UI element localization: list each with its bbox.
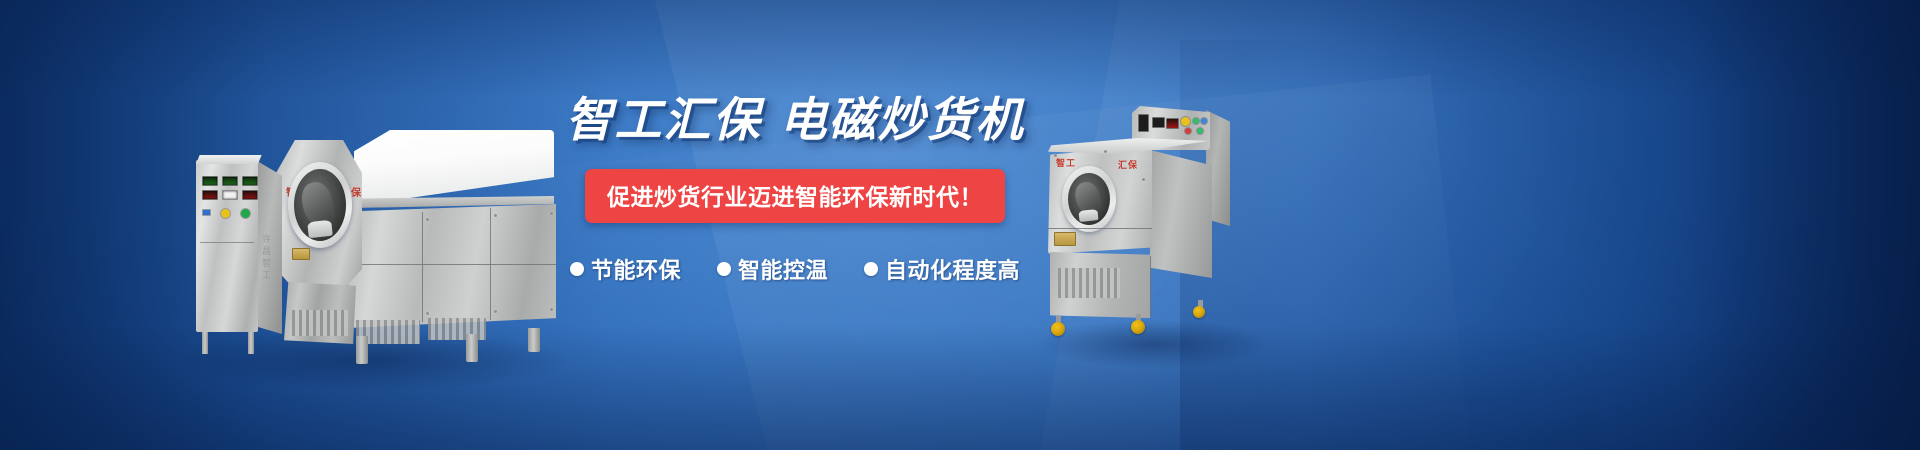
product-image-right: 智工 汇保 — [1040, 100, 1255, 350]
drum-blade — [1078, 209, 1098, 222]
machine-lid — [354, 130, 554, 206]
body-seam — [348, 264, 556, 265]
banner-copy: 智工汇保电磁炒货机 促进炒货行业迈进智能环保新时代！ 节能环保 智能控温 自动化… — [560, 96, 1030, 285]
knob-green[interactable] — [240, 208, 251, 219]
meter-green[interactable] — [242, 176, 258, 186]
body-rivet — [494, 214, 497, 217]
knob-blue[interactable] — [1200, 117, 1208, 125]
display-red[interactable] — [202, 190, 218, 200]
machine-leg — [528, 328, 540, 352]
cabinet-leg — [202, 332, 208, 354]
headline-part-1: 智工汇保 — [566, 93, 762, 146]
cabinet-side-text: 许昌智工 — [260, 234, 273, 324]
caster-wheel — [1193, 306, 1205, 318]
knob-red[interactable] — [1184, 127, 1192, 135]
machine-drum-interior — [1068, 173, 1110, 225]
tagline-ribbon: 促进炒货行业迈进智能环保新时代！ — [585, 169, 1005, 223]
meter-dark[interactable] — [1138, 114, 1149, 132]
feature-item: 节能环保 — [570, 253, 681, 285]
body-seam — [422, 212, 423, 322]
feature-item: 智能控温 — [717, 253, 828, 285]
brand-text-left: 智工 — [1056, 156, 1076, 169]
feature-label: 智能控温 — [738, 253, 828, 285]
machine-body — [348, 204, 556, 328]
body-rivet — [1142, 178, 1145, 181]
machine-leg — [356, 336, 368, 364]
knob-yellow[interactable] — [1180, 116, 1191, 127]
promo-banner: 智工 汇保 — [0, 0, 1920, 450]
dot-icon — [864, 262, 878, 276]
knob-blue[interactable] — [202, 209, 211, 216]
body-rivet — [494, 310, 497, 313]
control-panel — [1138, 110, 1206, 134]
headline-part-2: 电磁炒货机 — [780, 93, 1025, 146]
meter-green[interactable] — [202, 176, 218, 186]
meter-row — [202, 176, 258, 186]
machine-drum-ring — [288, 162, 352, 248]
display-red[interactable] — [242, 190, 258, 200]
body-seam — [1150, 256, 1151, 316]
brand-text-right: 汇保 — [1118, 158, 1138, 171]
meter-dark[interactable] — [1152, 117, 1165, 128]
meter-green[interactable] — [222, 176, 238, 186]
machine-nameplate — [1054, 232, 1076, 246]
knob-green[interactable] — [1196, 127, 1204, 135]
caster-wheel — [1051, 322, 1065, 336]
machine-drum-interior — [294, 169, 346, 241]
body-rivet — [1104, 150, 1107, 153]
machine-nameplate — [292, 248, 310, 260]
feature-list: 节能环保 智能控温 自动化程度高 — [560, 253, 1030, 285]
feature-item: 自动化程度高 — [864, 253, 1020, 285]
machine-leg — [466, 334, 478, 362]
body-rivet — [550, 212, 553, 215]
ribbon-wrapper: 促进炒货行业迈进智能环保新时代！ — [560, 169, 1030, 223]
dot-icon — [570, 262, 584, 276]
machine-vents — [292, 310, 348, 336]
dot-icon — [717, 262, 731, 276]
body-rivet — [550, 308, 553, 311]
caster-wheel — [1131, 320, 1145, 334]
feature-label: 自动化程度高 — [885, 253, 1020, 285]
cabinet-legs — [200, 332, 258, 354]
body-rivet — [1054, 154, 1057, 157]
body-rivet — [426, 218, 429, 221]
machine-side-panel — [1150, 150, 1212, 278]
knob-green[interactable] — [1192, 117, 1200, 125]
body-seam — [1048, 228, 1152, 229]
machine-drum-ring — [1062, 166, 1116, 232]
product-image-left: 智工 汇保 — [160, 96, 580, 366]
body-rivet — [426, 312, 429, 315]
headline: 智工汇保电磁炒货机 — [560, 96, 1030, 143]
knob-yellow[interactable] — [220, 208, 231, 219]
control-panel — [200, 168, 254, 230]
feature-label: 节能环保 — [591, 253, 681, 285]
display-row — [202, 190, 258, 200]
drum-blade — [307, 220, 332, 238]
cabinet-leg — [248, 332, 254, 354]
cabinet-top — [196, 155, 262, 164]
cabinet-door-seam — [200, 242, 254, 243]
machine-vents — [1058, 268, 1120, 298]
meter-red[interactable] — [1166, 118, 1179, 129]
display-white[interactable] — [222, 190, 238, 200]
